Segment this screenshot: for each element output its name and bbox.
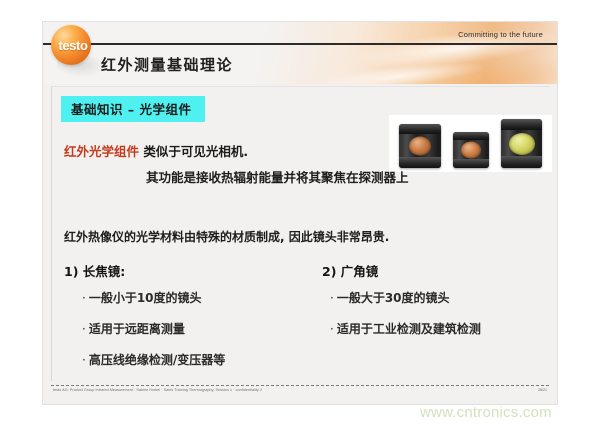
lens-ring-bottom	[501, 156, 542, 168]
intro-highlight-term: 红外光学组件	[64, 144, 139, 159]
bullet-dot-icon: ·	[82, 353, 86, 367]
slide-page-number: 28/21	[538, 388, 547, 392]
infrared-lens-photo	[389, 115, 552, 172]
column-1-bullet-3-label: 高压线绝缘检测/变压器等	[89, 353, 225, 367]
lens-glass-element	[509, 133, 535, 155]
lens-glass-element	[409, 137, 431, 156]
bullet-dot-icon: ·	[330, 291, 334, 305]
section-subtitle-chip: 基础知识 – 光学组件	[61, 96, 205, 122]
column-1-heading: 1) 长焦镜:	[64, 261, 125, 280]
bullet-dot-icon: ·	[82, 291, 86, 305]
column-2-bullet-1-label: 一般大于30度的镜头	[337, 291, 450, 305]
lens-barrel-left	[399, 124, 441, 168]
lens-barrel-middle	[453, 132, 489, 168]
logo-wordmark: testo	[52, 38, 94, 53]
lens-barrel-right	[501, 119, 542, 168]
function-line: 其功能是接收热辐射能量并将其聚焦在探测器上	[146, 167, 409, 186]
column-2-bullet-2-label: 适用于工业检测及建筑检测	[337, 322, 481, 336]
column-1-bullet-1: ·一般小于10度的镜头	[82, 289, 202, 306]
column-1-bullet-2-label: 适用于远距离测量	[89, 322, 185, 336]
slide-body-panel: 基础知识 – 光学组件 红外光学组件 类似于可见光相机. 其功能是接	[51, 86, 550, 381]
footer-credit-text: testo AG, Product Group Infrared Measure…	[53, 388, 262, 392]
bullet-dot-icon: ·	[330, 322, 334, 336]
column-1-bullet-1-label: 一般小于10度的镜头	[89, 291, 202, 305]
column-2-heading: 2) 广角镜	[322, 261, 378, 280]
column-1-bullet-3: ·高压线绝缘检测/变压器等	[82, 351, 225, 368]
lens-ring-bottom	[453, 159, 489, 168]
header-divider-rule	[43, 43, 557, 45]
column-2-bullet-2: ·适用于工业检测及建筑检测	[330, 320, 481, 337]
intro-rest-text: 类似于可见光相机.	[139, 144, 248, 159]
site-watermark: www.cntronics.com	[420, 404, 552, 421]
footer-divider	[51, 385, 549, 386]
brand-tagline: Committing to the future	[458, 30, 543, 39]
lens-ring-top	[501, 119, 542, 130]
testo-logo: testo	[51, 25, 93, 67]
slide-canvas: Committing to the future testo 红外测量基础理论 …	[43, 22, 557, 404]
bullet-dot-icon: ·	[82, 322, 86, 336]
material-line: 红外热像仪的光学材料由特殊的材质制成, 因此镜头非常昂贵.	[64, 228, 389, 245]
column-2-bullet-1: ·一般大于30度的镜头	[330, 289, 450, 306]
slide-title: 红外测量基础理论	[101, 54, 233, 75]
lens-ring-top	[399, 124, 441, 134]
intro-line: 红外光学组件 类似于可见光相机.	[64, 141, 248, 160]
column-1-bullet-2: ·适用于远距离测量	[82, 320, 185, 337]
lens-ring-top	[453, 132, 489, 140]
lens-glass-element	[461, 142, 481, 159]
